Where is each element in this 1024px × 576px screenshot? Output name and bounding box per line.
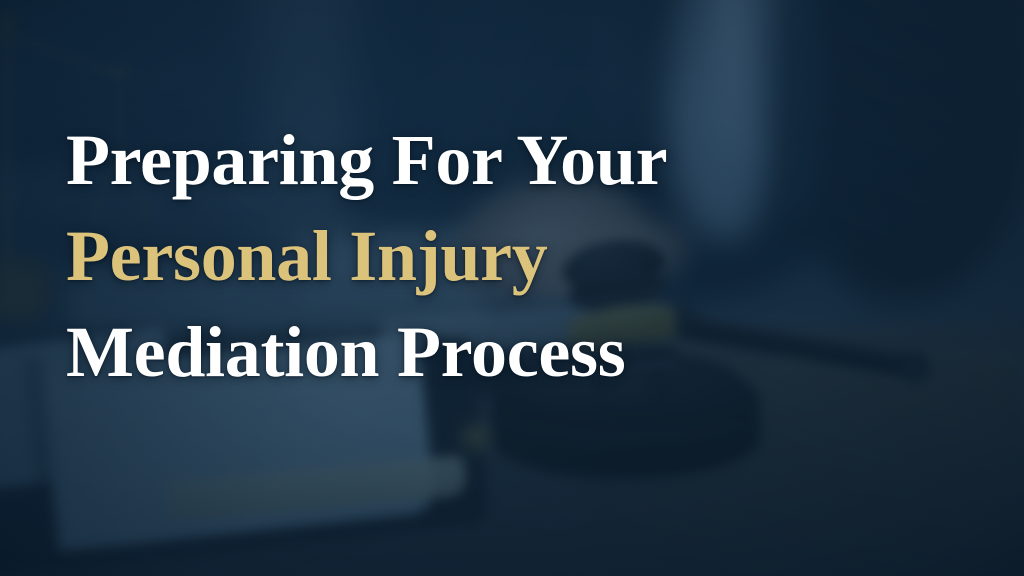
headline-line-1: Preparing For Your <box>66 112 926 208</box>
headline-line-2-accent: Personal Injury <box>66 208 926 304</box>
page-title: Preparing For Your Personal Injury Media… <box>66 112 926 400</box>
hero-banner: Preparing For Your Personal Injury Media… <box>0 0 1024 576</box>
headline-line-3: Mediation Process <box>66 304 926 400</box>
